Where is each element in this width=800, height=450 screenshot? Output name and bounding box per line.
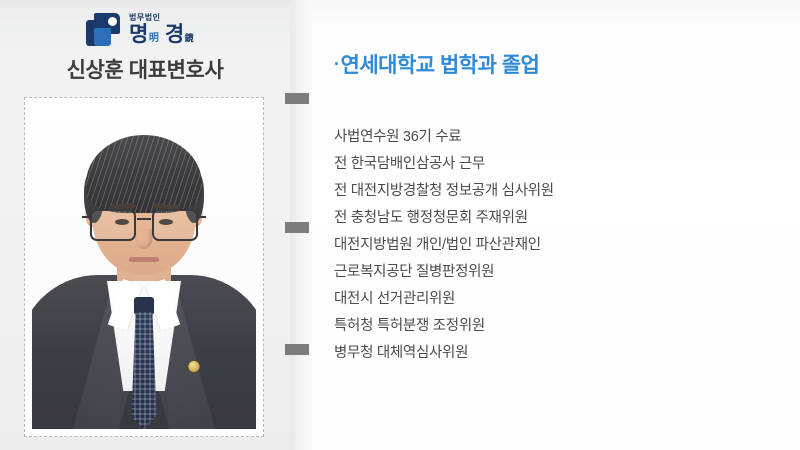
logo-subtitle: 법무법인 bbox=[129, 14, 194, 22]
right-panel: ·연세대학교 법학과 졸업 사법연수원 36기 수료 전 한국담배인삼공사 근무… bbox=[312, 0, 800, 450]
list-item: 전 대전지방경찰청 정보공개 심사위원 bbox=[334, 178, 554, 205]
portrait-photo bbox=[32, 105, 256, 429]
profile-slide: 법무법인 명 明 경 鏡 신상훈 대표변호사 bbox=[0, 0, 800, 450]
portrait-illustration bbox=[32, 105, 256, 429]
lapel-pin-icon bbox=[189, 361, 200, 372]
portrait-frame bbox=[24, 97, 264, 437]
logo-char-myeong: 명 bbox=[129, 24, 148, 45]
logo-hanja-myeong: 明 bbox=[149, 34, 159, 44]
list-item: 전 한국담배인삼공사 근무 bbox=[334, 151, 554, 178]
education-heading-text: 연세대학교 법학과 졸업 bbox=[341, 54, 540, 77]
bullet-icon: · bbox=[334, 54, 340, 74]
logo-wordmark: 법무법인 명 明 경 鏡 bbox=[129, 14, 194, 45]
list-item: 특허청 특허분쟁 조정위원 bbox=[334, 313, 554, 340]
list-item: 사법연수원 36기 수료 bbox=[334, 124, 554, 151]
tab-marker-2[interactable] bbox=[285, 222, 309, 233]
firm-logo: 법무법인 명 明 경 鏡 bbox=[86, 8, 236, 50]
credential-list: 사법연수원 36기 수료 전 한국담배인삼공사 근무 전 대전지방경찰청 정보공… bbox=[334, 124, 554, 367]
logo-hanja-gyeong: 鏡 bbox=[185, 34, 194, 43]
logo-title: 명 明 경 鏡 bbox=[129, 24, 194, 45]
list-item: 근로복지공단 질병판정위원 bbox=[334, 259, 554, 286]
tab-marker-3[interactable] bbox=[285, 344, 309, 355]
logo-mark-icon bbox=[86, 13, 120, 46]
list-item: 병무청 대체역심사위원 bbox=[334, 340, 554, 367]
list-item: 대전시 선거관리위원 bbox=[334, 286, 554, 313]
list-item: 전 충청남도 행정청문회 주재위원 bbox=[334, 205, 554, 232]
education-heading: ·연세대학교 법학과 졸업 bbox=[334, 49, 539, 79]
tab-marker-1[interactable] bbox=[285, 93, 309, 104]
logo-char-gyeong: 경 bbox=[165, 24, 184, 45]
profile-name-title: 신상훈 대표변호사 bbox=[0, 54, 290, 84]
left-panel: 법무법인 명 明 경 鏡 신상훈 대표변호사 bbox=[0, 0, 290, 450]
list-item: 대전지방법원 개인/법인 파산관재인 bbox=[334, 232, 554, 259]
